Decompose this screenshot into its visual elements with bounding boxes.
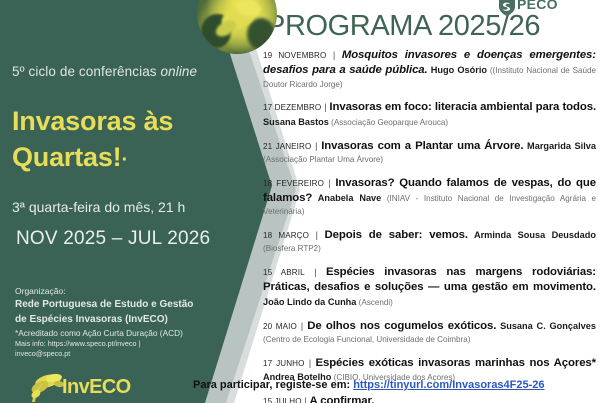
page-title-line2-text: Quartas! [12,142,121,172]
entry-speaker: Arminda Sousa Deusdado [468,230,596,240]
left-panel-content: 5º ciclo de conferências online Invasora… [0,0,240,403]
entry-date: 19 NOVEMBRO [263,51,326,60]
organization-name-line1: Rede Portuguesa de Estudo e Gestão [15,298,230,312]
entry-separator: | [333,50,336,61]
entry-date: 15 JULHO [263,397,302,403]
entry-separator: | [316,230,319,241]
entry-speaker: Anabela Nave [312,193,381,203]
registration-line: Para participar, registe-se em: https://… [193,379,545,391]
entry-talk-title: A confirmar. [309,395,374,403]
entry-date: 21 JANEIRO [263,142,311,151]
page-title-line1: Invasoras às [12,104,237,140]
entry-date: 20 MAIO [263,322,297,331]
inveco-logo: InvECO [28,372,148,403]
program-entry: 20 MAIO | De olhos nos cogumelos exótico… [263,319,596,347]
entry-affiliation: (Associação Plantar Uma Árvore) [263,155,383,164]
entry-separator: | [314,267,317,278]
entry-speaker: João Lindo da Cunha [263,297,356,307]
program-entry: 18 MARÇO | Depois de saber: vemos. Armin… [263,228,596,256]
program-entry: 15 JULHO | A confirmar. * Título a confi… [263,394,596,403]
program-entry: 21 JANEIRO | Invasoras com a Plantar uma… [263,139,596,167]
inveco-logo-text: InvECO [62,376,131,399]
photo-leaf-shape [247,18,275,50]
program-entry: 19 NOVEMBRO | Mosquitos invasores e doen… [263,48,596,91]
accreditation-text: *Acreditado como Ação Curta Duração (ACD… [15,328,183,338]
cycle-subtitle-text: 5º ciclo de conferências [12,64,161,79]
entry-date: 15 ABRIL [263,268,305,277]
entry-talk-title: De olhos nos cogumelos exóticos. [307,320,496,332]
entry-talk-title: Espécies invasoras nas margens rodoviári… [263,266,596,293]
program-entry: 18 FEVEREIRO | Invasoras? Quando falamos… [263,176,596,219]
entry-speaker: Margarida Silva [523,141,596,151]
page-title-line2: Quartas!· [12,140,237,176]
page-title-dot: · [121,149,127,171]
acacia-flower-photo [197,0,277,54]
clipped-bottom-text [193,396,196,403]
speco-logo-text: PECO [517,0,558,12]
entry-affiliation: (Centro de Ecologia Funcional, Universid… [263,335,470,344]
entry-date: 17 DEZEMBRO [263,103,321,112]
entry-talk-title: Espécies exóticas invasoras marinhas nos… [315,357,596,369]
registration-label: Para participar, registe-se em: [193,379,353,391]
entry-affiliation: (Biosfera RTP2) [263,244,321,253]
program-heading-main: PROGRAMA [266,10,430,42]
program-entry: 15 ABRIL | Espécies invasoras nas margen… [263,265,596,309]
entry-separator: | [324,102,327,113]
entry-separator: | [315,141,318,152]
accreditation-block: *Acreditado como Ação Curta Duração (ACD… [15,327,230,359]
registration-link[interactable]: https://tinyurl.com/Invasoras4F25-26 [353,379,544,391]
entry-date: 17 JUNHO [263,359,305,368]
organization-label: Organização: [15,286,230,297]
schedule-when: 3ª quarta-feira do mês, 21 h [12,199,242,215]
organization-name-line2: de Espécies Invasoras (InvECO) [15,313,230,327]
schedule-date-range: NOV 2025 – JUL 2026 [16,228,246,250]
entry-talk-title: Invasoras com a Plantar uma Árvore. [321,140,523,152]
entry-separator: | [301,321,304,332]
more-info-text: Mais info: https://www.speco.pt/inveco | [15,339,230,349]
cycle-subtitle-online: online [161,64,198,79]
contact-email: inveco@speco.pt [15,349,230,359]
entry-separator: | [304,396,307,403]
entry-speaker: Hugo Osório [428,65,487,75]
entry-speaker: Susana Bastos [263,117,329,127]
entry-talk-title: Invasoras em foco: literacia ambiental p… [329,101,596,113]
poster-canvas: PECO 5º ciclo de conferências online Inv… [0,0,600,403]
entry-affiliation: (Ascendi) [356,298,392,307]
organization-block: Organização: Rede Portuguesa de Estudo e… [15,286,230,326]
entry-separator: | [309,358,312,369]
program-entry: 17 DEZEMBRO | Invasoras em foco: literac… [263,100,596,129]
entry-separator: | [328,178,331,189]
page-title: Invasoras às Quartas!· [12,104,237,175]
entry-speaker: Susana C. Gonçalves [496,321,596,331]
program-entry-list: 19 NOVEMBRO | Mosquitos invasores e doen… [263,48,596,403]
entry-date: 18 MARÇO [263,231,309,240]
speco-logo: PECO [497,0,575,18]
speco-shield-icon [497,0,519,18]
cycle-subtitle: 5º ciclo de conferências online [12,64,227,79]
entry-talk-title: Depois de saber: vemos. [325,229,468,241]
entry-date: 18 FEVEREIRO [263,179,324,188]
entry-affiliation: (Associação Geoparque Arouca) [329,118,448,127]
